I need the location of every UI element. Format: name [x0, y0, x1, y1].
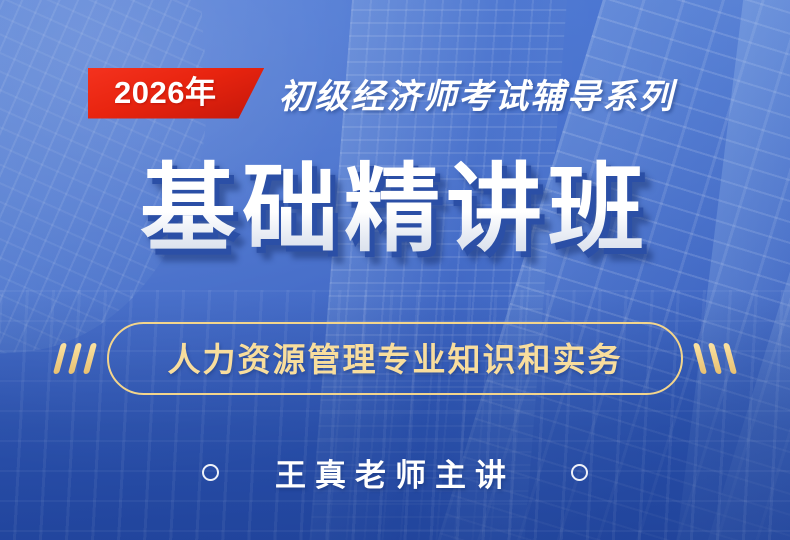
- slash-icon: [693, 343, 707, 374]
- lecturer-label: 王真老师主讲: [275, 450, 515, 495]
- subtitle-row: 人力资源管理专业知识和实务: [0, 322, 790, 395]
- header-row: 2026年 初级经济师考试辅导系列: [0, 60, 790, 126]
- slashes-left-icon: [57, 343, 93, 374]
- series-title: 初级经济师考试辅导系列: [278, 69, 674, 118]
- circle-ring-left-icon: [202, 464, 219, 481]
- slashes-right-icon: [697, 343, 733, 374]
- year-badge-label: 2026年: [114, 75, 216, 110]
- slash-icon: [83, 343, 97, 374]
- page-title: 基础精讲班: [140, 158, 650, 262]
- lecturer-row: 王真老师主讲: [0, 450, 790, 495]
- slash-icon: [723, 343, 737, 374]
- course-banner: 2026年 初级经济师考试辅导系列 基础精讲班 人力资源管理专业知识和实务 王真…: [0, 0, 790, 540]
- slash-icon: [68, 343, 82, 374]
- subject-label: 人力资源管理专业知识和实务: [168, 341, 623, 378]
- circle-ring-right-icon: [571, 464, 588, 481]
- slash-icon: [708, 343, 722, 374]
- main-title-wrap: 基础精讲班: [0, 158, 790, 262]
- slash-icon: [53, 343, 67, 374]
- subject-pill: 人力资源管理专业知识和实务: [107, 322, 683, 395]
- year-badge: 2026年: [88, 68, 264, 119]
